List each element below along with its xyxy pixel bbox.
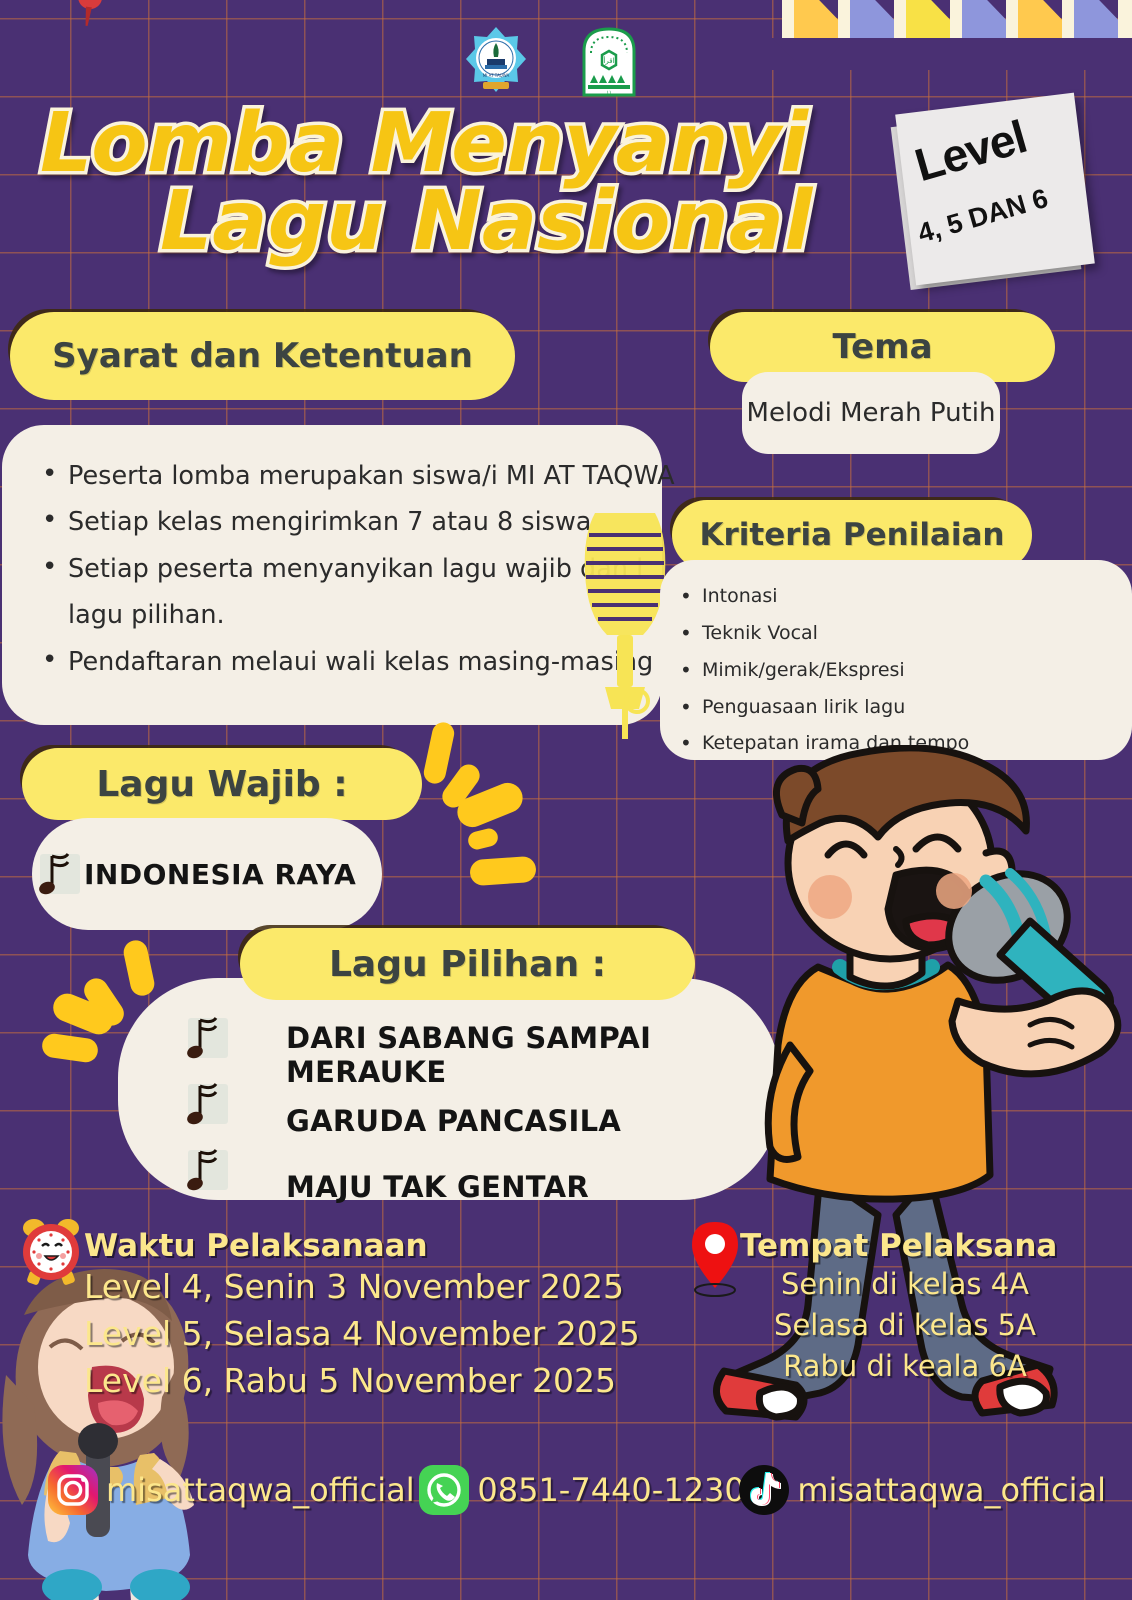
waktu-heading: Waktu Pelaksanaan (84, 1228, 704, 1264)
instagram-handle: misattaqwa_official (106, 1471, 415, 1509)
social-whatsapp[interactable]: 0851-7440-1230 (417, 1463, 737, 1517)
lagu-pilihan-heading-pill: Lagu Pilihan : (240, 928, 695, 1000)
whatsapp-number: 0851-7440-1230 (477, 1471, 744, 1509)
music-note-icon (180, 1076, 232, 1132)
burst-decoration (469, 856, 537, 887)
zigzag-decoration (772, 0, 1132, 70)
music-note-icon (180, 1010, 232, 1066)
pushpin-icon (67, 0, 110, 30)
poster-canvas: MI AT TAQWA اقرأ ١١ Level 4, 5 DAN 6 Lom… (0, 0, 1132, 1600)
syarat-list: Peserta lomba merupakan siswa/i MI AT TA… (2, 425, 662, 685)
social-instagram[interactable]: misattaqwa_official (46, 1463, 417, 1517)
waktu-line: Level 6, Rabu 5 November 2025 (84, 1358, 704, 1405)
level-sticky-note: Level 4, 5 DAN 6 (895, 93, 1095, 286)
page-title: Lomba Menyanyi Lagu Nasional (40, 105, 870, 261)
title-line-1: Lomba Menyanyi (40, 105, 870, 183)
syarat-heading-pill: Syarat dan Ketentuan (10, 312, 515, 400)
syarat-card: Peserta lomba merupakan siswa/i MI AT TA… (2, 425, 662, 725)
title-line-2: Lagu Nasional (160, 183, 870, 261)
kriteria-list: Intonasi Teknik Vocal Mimik/gerak/Ekspre… (660, 560, 1132, 762)
waktu-line: Level 5, Selasa 4 November 2025 (84, 1311, 704, 1358)
music-note-icon (32, 846, 84, 902)
lagu-wajib-heading: Lagu Wajib : (96, 764, 347, 805)
list-item: Teknik Vocal (702, 615, 1122, 652)
tempat-line: Selasa di kelas 5A (740, 1305, 1070, 1346)
tema-value: Melodi Merah Putih (747, 398, 996, 428)
tempat-line: Senin di kelas 4A (740, 1264, 1070, 1305)
yayasan-logo: اقرأ ١١ (578, 25, 640, 97)
social-tiktok[interactable]: misattaqwa_official (737, 1463, 1106, 1517)
kriteria-card: Intonasi Teknik Vocal Mimik/gerak/Ekspre… (660, 560, 1132, 760)
sticky-level-label: Level (909, 109, 1032, 192)
tempat-pelaksana-block: Tempat Pelaksana Senin di kelas 4A Selas… (740, 1228, 1070, 1388)
list-item: Mimik/gerak/Ekspresi (702, 652, 1122, 689)
music-note-icon (180, 1142, 232, 1198)
syarat-heading: Syarat dan Ketentuan (52, 336, 473, 376)
instagram-icon[interactable] (46, 1463, 100, 1517)
list-item: Penguasaan lirik lagu (702, 689, 1122, 726)
lagu-pilihan-heading: Lagu Pilihan : (329, 944, 606, 985)
lagu-pilihan-song: MAJU TAK GENTAR (286, 1170, 589, 1204)
madrasah-logo: MI AT TAQWA (465, 25, 527, 97)
tiktok-icon[interactable] (737, 1463, 791, 1517)
waktu-pelaksanaan-block: Waktu Pelaksanaan Level 4, Senin 3 Novem… (84, 1228, 704, 1405)
tempat-line: Rabu di keala 6A (740, 1346, 1070, 1387)
svg-text:اقرأ: اقرأ (603, 56, 614, 65)
alarm-clock-icon (18, 1216, 84, 1288)
tema-card: Melodi Merah Putih (742, 372, 1000, 454)
list-item: Pendaftaran melaui wali kelas masing-mas… (42, 639, 644, 685)
kriteria-heading: Kriteria Penilaian (699, 517, 1004, 553)
lagu-wajib-song: INDONESIA RAYA (84, 858, 356, 891)
list-item: Peserta lomba merupakan siswa/i MI AT TA… (42, 453, 644, 499)
svg-text:MI AT TAQWA: MI AT TAQWA (483, 73, 510, 78)
whatsapp-icon[interactable] (417, 1463, 471, 1517)
lagu-wajib-card: INDONESIA RAYA (32, 818, 382, 930)
list-item: Setiap peserta menyanyikan lagu wajib da… (42, 546, 644, 639)
social-footer: misattaqwa_official 0851-7440-1230 misat… (46, 1455, 1106, 1525)
list-item: Setiap kelas mengirimkan 7 atau 8 siswa (42, 499, 644, 545)
tema-heading: Tema (832, 327, 932, 367)
lagu-wajib-heading-pill: Lagu Wajib : (22, 748, 422, 820)
tempat-heading: Tempat Pelaksana (740, 1228, 1070, 1264)
sticky-level-values: 4, 5 DAN 6 (915, 183, 1052, 250)
waktu-line: Level 4, Senin 3 November 2025 (84, 1264, 704, 1311)
lagu-pilihan-song: GARUDA PANCASILA (286, 1104, 621, 1138)
tiktok-handle: misattaqwa_official (797, 1471, 1106, 1509)
list-item: Intonasi (702, 578, 1122, 615)
